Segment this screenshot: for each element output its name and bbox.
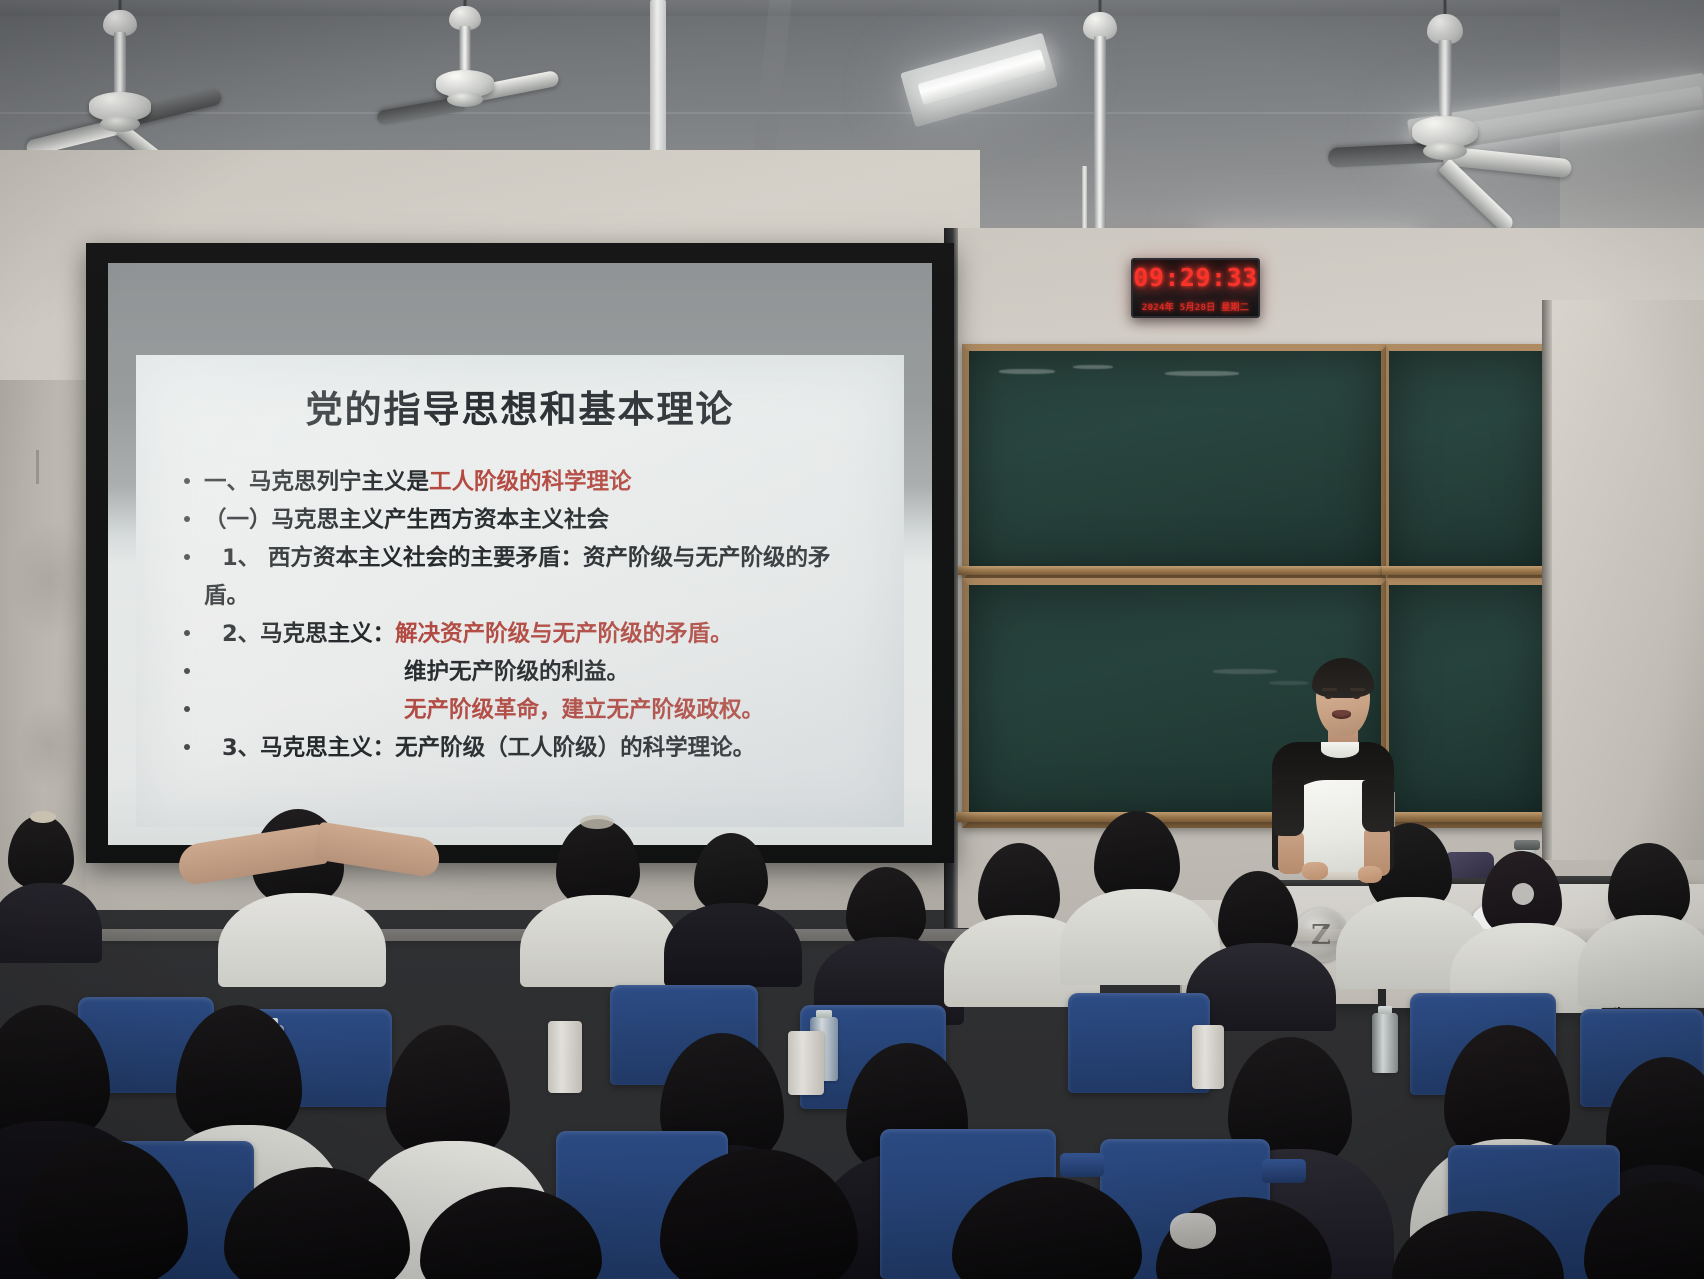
wall-mark xyxy=(36,450,39,484)
bullet-dot xyxy=(184,478,190,484)
chalk-mark xyxy=(999,369,1055,374)
bullet-text: 维护无产阶级的利益。 xyxy=(204,659,629,685)
bullet-text: 1、 西方资本主义社会的主要矛盾：资产阶级与无产阶级的矛 xyxy=(204,545,831,571)
hair-clip xyxy=(580,815,614,829)
water-bottle xyxy=(1372,1013,1398,1073)
slide-bullet-list: 一、马克思列宁主义是工人阶级的科学理论 （一）马克思主义产生西方资本主义社会 1… xyxy=(180,463,880,767)
bullet-dot xyxy=(184,668,190,674)
classroom-lecture-photo: 09:29:33 2024年 5月28日 星期二 党的指导思想和基本理论 一、马… xyxy=(0,0,1704,1279)
bullet-text: （一）马克思主义产生西方资本主义社会 xyxy=(204,507,609,533)
lecturer-arm-left xyxy=(1278,830,1304,874)
bullet-text: 3、马克思主义：无产阶级（工人阶级）的科学理论。 xyxy=(204,735,755,761)
lecturer-eyebrow xyxy=(1350,688,1365,691)
blackboard-rail xyxy=(1382,566,1550,575)
lecturer-eyebrow xyxy=(1322,688,1337,691)
lecturer-eye xyxy=(1353,695,1360,699)
slide-bullet: （一）马克思主义产生西方资本主义社会 xyxy=(180,501,880,539)
audience-head xyxy=(694,833,768,913)
slide-bullet: 一、马克思列宁主义是工人阶级的科学理论 xyxy=(180,463,880,501)
blackboard-rail xyxy=(958,566,1382,575)
bullet-dot xyxy=(184,706,190,712)
lecturer-collar xyxy=(1321,742,1359,758)
slide-bullet: 维护无产阶级的利益。 xyxy=(180,653,880,691)
lecturer-mouth xyxy=(1332,710,1351,719)
bullet-dot xyxy=(184,516,190,522)
audience-shoulders xyxy=(520,895,680,987)
slide-bullet: 2、马克思主义：解决资产阶级与无产阶级的矛盾。 xyxy=(180,615,880,653)
blackboard-lower-right xyxy=(1386,578,1552,828)
wall-stain xyxy=(18,700,78,790)
clock-time: 09:29:33 xyxy=(1133,263,1258,292)
lecturer-eye xyxy=(1325,695,1332,699)
seat-armrest xyxy=(1060,1153,1104,1177)
slide-bullet-continuation: 盾。 xyxy=(180,577,880,615)
auditorium-seat xyxy=(1068,993,1210,1093)
wall-edge xyxy=(1542,300,1552,860)
bottle-cap xyxy=(1378,1006,1393,1014)
chalk-mark xyxy=(1213,669,1277,674)
audience-area xyxy=(0,809,1704,1279)
audience-shoulders xyxy=(664,903,802,987)
bullet-dot xyxy=(184,630,190,636)
hair-accessory xyxy=(1512,883,1534,905)
clock-date: 2024年 5月28日 星期二 xyxy=(1133,300,1258,313)
ceiling-fan xyxy=(34,0,206,160)
bullet-dot xyxy=(184,744,190,750)
seat-armrest xyxy=(1262,1159,1306,1183)
bullet-dot xyxy=(184,554,190,560)
far-right-wall xyxy=(1550,300,1704,860)
lecturer-sleeve-left xyxy=(1272,780,1304,836)
chalk-mark xyxy=(1073,365,1113,369)
bullet-text: 一、马克思列宁主义是 xyxy=(204,469,429,495)
tumbler xyxy=(1192,1025,1224,1089)
hair-clip xyxy=(30,811,56,823)
chalk-mark xyxy=(1165,371,1239,376)
chalk-mark xyxy=(1269,681,1309,685)
tumbler xyxy=(788,1031,824,1095)
blackboard-upper xyxy=(962,344,1388,580)
lecturer-sleeve-right xyxy=(1362,780,1394,832)
bullet-text-highlight: 工人阶级的科学理论 xyxy=(429,469,632,495)
slide-bullet: 3、马克思主义：无产阶级（工人阶级）的科学理论。 xyxy=(180,729,880,767)
bottle-cap xyxy=(816,1010,832,1018)
audience-shoulders xyxy=(0,883,102,963)
blackboard-upper-right xyxy=(1386,344,1552,580)
presentation-slide: 党的指导思想和基本理论 一、马克思列宁主义是工人阶级的科学理论 （一）马克思主义… xyxy=(136,355,904,827)
bullet-text: 2、马克思主义： xyxy=(204,621,395,647)
wall-stain xyxy=(10,520,90,640)
projection-screen-frame: 党的指导思想和基本理论 一、马克思列宁主义是工人阶级的科学理论 （一）马克思主义… xyxy=(86,243,954,863)
audience-head xyxy=(8,815,74,889)
bullet-text-highlight: 解决资产阶级与无产阶级的矛盾。 xyxy=(395,621,733,647)
audience-head xyxy=(556,819,640,907)
projection-screen: 党的指导思想和基本理论 一、马克思列宁主义是工人阶级的科学理论 （一）马克思主义… xyxy=(108,263,932,845)
ceiling-fan xyxy=(380,0,550,150)
lecturer-hand-right xyxy=(1358,866,1382,883)
slide-bullet: 无产阶级革命，建立无产阶级政权。 xyxy=(180,691,880,729)
phone-in-hand xyxy=(1170,1213,1216,1249)
bullet-text-highlight: 无产阶级革命，建立无产阶级政权。 xyxy=(204,697,764,723)
slide-bullet: 1、 西方资本主义社会的主要矛盾：资产阶级与无产阶级的矛 xyxy=(180,539,880,577)
audience-shoulders xyxy=(218,893,386,987)
ceiling-fan xyxy=(1330,0,1560,200)
lecturer-hand-left xyxy=(1302,862,1328,880)
led-wall-clock: 09:29:33 2024年 5月28日 星期二 xyxy=(1131,258,1260,318)
slide-title: 党的指导思想和基本理论 xyxy=(136,379,904,433)
tumbler xyxy=(548,1021,582,1093)
bullet-text: 盾。 xyxy=(204,583,249,609)
